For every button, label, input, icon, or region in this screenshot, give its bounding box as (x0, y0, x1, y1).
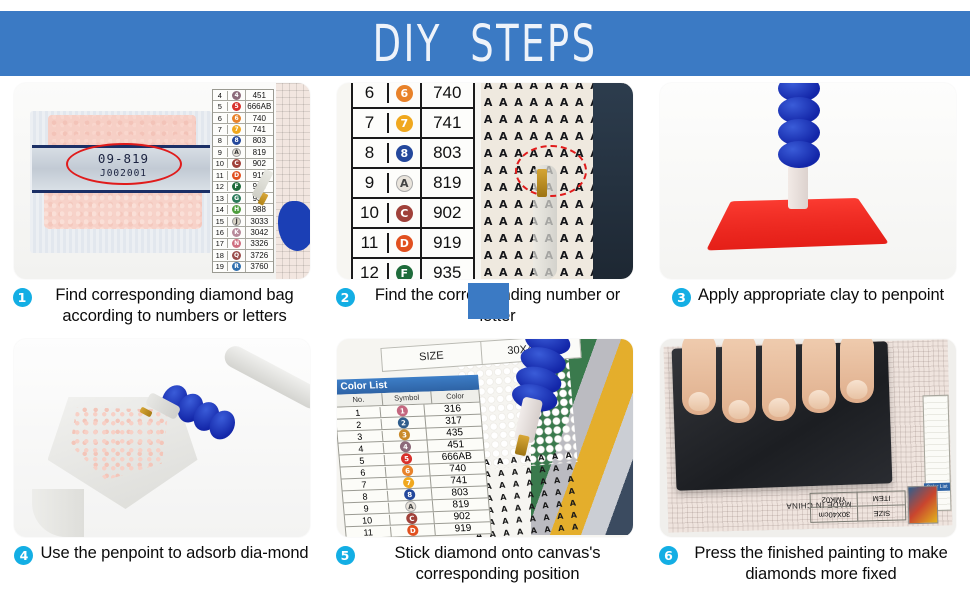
chart-no: 15 (213, 217, 229, 226)
color-dot: 1 (396, 405, 408, 416)
chart-no: 11 (353, 233, 389, 253)
canvas-symbol: A (481, 181, 496, 198)
color-dot: A (396, 175, 413, 192)
step-cell-4: 4 Use the penpoint to adsorb dia-mond (0, 336, 323, 600)
chart-row: 11D919 (353, 229, 473, 259)
canvas-symbol: A (572, 96, 587, 113)
color-list-table: 1131622317334354445155666AB6674077741888… (337, 403, 492, 537)
row-code: 741 (431, 474, 487, 487)
chart-no: 9 (353, 173, 389, 193)
color-dot: 6 (396, 85, 413, 102)
chart-row: 17N3326 (213, 239, 273, 250)
canvas-symbol: A (526, 130, 541, 147)
row-no: 5 (339, 454, 385, 466)
chart-symbol: 8 (228, 136, 246, 146)
canvas-symbol: A (526, 83, 541, 96)
chart-code: 451 (246, 91, 272, 100)
spec-value: 30X40cm (811, 507, 858, 522)
red-dashed-ellipse-icon (515, 145, 587, 197)
canvas-symbol: A (481, 83, 496, 96)
chart-row: 14H988 (213, 204, 273, 215)
spec-value: YMK02 (811, 492, 858, 507)
chart-code: 3726 (246, 251, 272, 260)
step-1-photo: 09-819 J002001 4445155666AB6674077741888… (14, 83, 310, 279)
color-dot: 4 (232, 91, 241, 100)
canvas-symbol: A (526, 96, 541, 113)
color-dot: G (232, 194, 241, 203)
canvas-symbol: A (496, 147, 511, 164)
chart-symbol: 7 (228, 124, 246, 134)
chart-no: 19 (213, 262, 229, 271)
color-dot: 8 (396, 145, 413, 162)
header-banner: DIY STEPS (0, 11, 970, 76)
chart-code: 3760 (246, 262, 272, 271)
canvas-symbol: A (481, 198, 496, 215)
canvas-symbol: A (481, 232, 496, 249)
canvas-symbol: A (556, 83, 571, 96)
finger (682, 339, 716, 415)
step-badge-3: 3 (672, 288, 691, 307)
canvas-symbol: A (526, 526, 541, 537)
canvas-symbol: A (556, 113, 571, 130)
canvas-symbol: A (496, 96, 511, 113)
chart-symbol: D (228, 170, 246, 180)
step-3-text: Apply appropriate clay to penpoint (698, 285, 944, 306)
color-dot: 5 (400, 453, 412, 464)
finger (762, 339, 796, 421)
page-title: DIY STEPS (373, 18, 598, 68)
row-code: 819 (433, 498, 489, 511)
fingernail (809, 390, 830, 409)
chart-no: 7 (213, 125, 229, 134)
fingernail (729, 400, 750, 419)
chart-code: 666AB (246, 102, 272, 111)
chart-symbol: G (228, 193, 246, 203)
chart-no: 9 (213, 148, 229, 157)
canvas-symbol: A (572, 266, 587, 279)
canvas-symbol: A (572, 232, 587, 249)
color-dot: F (396, 265, 413, 280)
step-cell-6: Color List MADE IN CHINA SIZE30X40cmITEM… (646, 336, 970, 600)
chart-no: 12 (213, 182, 229, 191)
step-2-photo: AAAAAAAAAAAAAAAAAAAAAAAAAAAAAAAAAAAAAAAA… (337, 83, 633, 279)
color-dot: 4 (399, 441, 411, 452)
spec-key: ITEM (857, 490, 905, 505)
canvas-symbol: A (481, 96, 496, 113)
color-dot: H (232, 205, 241, 214)
row-symbol: 5 (384, 452, 430, 465)
canvas-symbol: A (496, 181, 511, 198)
canvas-symbol: A (481, 130, 496, 147)
color-dot: K (232, 228, 241, 237)
color-dot: 7 (402, 477, 414, 488)
row-code: 317 (425, 415, 481, 428)
step-badge-1: 1 (13, 288, 32, 307)
drill-pen (138, 341, 310, 461)
canvas-label-strip: MADE IN CHINA SIZE30X40cmITEMYMK02 (667, 485, 940, 534)
color-dot: R (232, 262, 241, 271)
canvas-symbol: A (496, 113, 511, 130)
hand (682, 339, 892, 429)
step-badge-2: 2 (336, 288, 355, 307)
canvas-symbol: A (496, 164, 511, 181)
canvas-symbol: A (481, 249, 496, 266)
color-dot: 8 (403, 489, 415, 500)
chart-code: 803 (422, 143, 472, 163)
color-dot: A (232, 148, 241, 157)
chart-symbol: H (228, 204, 246, 214)
row-no: 4 (338, 443, 384, 455)
finger (802, 339, 836, 413)
canvas-symbol: A (541, 96, 556, 113)
canvas-symbol: A (572, 249, 587, 266)
chart-code: 819 (246, 148, 272, 157)
row-code: 435 (426, 427, 482, 440)
canvas-symbol: A (496, 83, 511, 96)
artwork-thumbnail (907, 485, 938, 524)
color-dot: C (396, 205, 413, 222)
chart-symbol: 5 (228, 101, 246, 111)
chart-code: 741 (246, 125, 272, 134)
steps-grid: 09-819 J002001 4445155666AB6674077741888… (0, 80, 970, 600)
chart-row: 66740 (353, 83, 473, 109)
step-5-caption: 5 Stick diamond onto canvas's correspond… (330, 543, 640, 584)
chart-code: 740 (246, 114, 272, 123)
canvas-symbol: A (481, 164, 496, 181)
row-code: 666AB (428, 451, 484, 464)
row-no: 10 (344, 514, 390, 526)
canvas-symbol: A (572, 130, 587, 147)
chart-code: 935 (422, 263, 472, 279)
color-dot: D (396, 235, 413, 252)
finger (840, 339, 874, 403)
chart-row: 55666AB (213, 101, 273, 112)
chart-row: 9A819 (213, 147, 273, 158)
chart-no: 16 (213, 228, 229, 237)
color-dot: C (405, 513, 417, 524)
chart-no: 10 (213, 159, 229, 168)
step-badge-5: 5 (336, 546, 355, 565)
color-dot: 2 (397, 417, 409, 428)
step-6-text: Press the finished painting to make diam… (685, 543, 957, 584)
color-dot: 6 (232, 114, 241, 123)
row-code: 451 (427, 439, 483, 452)
row-no: 6 (340, 466, 386, 478)
canvas-symbol: A (512, 527, 527, 537)
step-cell-1: 09-819 J002001 4445155666AB6674077741888… (0, 80, 323, 336)
chart-row: 19R3760 (213, 262, 273, 272)
color-dot: 6 (401, 465, 413, 476)
canvas-symbol: A (511, 83, 526, 96)
canvas-symbol: A (496, 232, 511, 249)
chart-symbol: 4 (228, 90, 246, 100)
color-dot: 8 (232, 136, 241, 145)
step-4-photo (14, 339, 310, 537)
chart-code: 740 (422, 83, 472, 103)
chart-code: 988 (246, 205, 272, 214)
canvas-symbol: A (556, 232, 571, 249)
step-3-caption: 3 Apply appropriate clay to penpoint (653, 285, 963, 307)
canvas-symbol: A (540, 524, 555, 537)
chart-no: 8 (213, 136, 229, 145)
chart-no: 14 (213, 205, 229, 214)
canvas-symbol: A (556, 96, 571, 113)
row-no: 2 (337, 419, 382, 431)
row-symbol: 8 (387, 488, 433, 501)
row-no: 11 (345, 526, 391, 537)
diamond-grains-bottom (44, 187, 202, 229)
grip-bead (778, 141, 820, 168)
chart-row: 10C902 (353, 199, 473, 229)
blue-occlusion-box (468, 283, 509, 319)
color-dot: 7 (232, 125, 241, 134)
canvas-symbol: A (554, 523, 569, 536)
step-cell-5: AAAAAAAAAAAAAAAAAAAAAAAAAAAAAAAAAAAAAAAA… (323, 336, 646, 600)
chart-code: 3042 (246, 228, 272, 237)
pen-tip-icon (139, 407, 152, 418)
color-dot: 5 (232, 102, 241, 111)
canvas-symbol: A (556, 249, 571, 266)
row-no: 3 (337, 431, 383, 443)
chart-code: 741 (422, 113, 472, 133)
step-3-photo (660, 83, 956, 279)
canvas-symbol: A (556, 130, 571, 147)
column-header: No. (337, 393, 384, 407)
chart-row: 10C902 (213, 159, 273, 170)
chart-row: 66740 (213, 113, 273, 124)
step-6-caption: 6 Press the finished painting to make di… (653, 543, 963, 584)
row-no: 9 (343, 502, 389, 514)
spec-row: ITEMYMK02 (811, 490, 905, 506)
size-label: SIZE (381, 347, 480, 366)
row-code: 316 (424, 403, 480, 416)
color-dot: A (404, 501, 416, 512)
color-dot: 3 (398, 429, 410, 440)
chart-symbol: F (228, 182, 246, 192)
chart-symbol: D (389, 229, 423, 257)
column-header: Color (430, 390, 478, 404)
canvas-symbol: A (526, 113, 541, 130)
chart-row: 77741 (353, 109, 473, 139)
chart-symbol: 6 (228, 113, 246, 123)
color-dot: N (232, 239, 241, 248)
chart-no: 8 (353, 143, 389, 163)
row-symbol: A (388, 500, 434, 513)
chart-row: 18Q3726 (213, 250, 273, 261)
chart-symbol: C (228, 159, 246, 169)
color-dot: J (232, 217, 241, 226)
row-symbol: C (389, 512, 435, 525)
fingernail (847, 380, 868, 399)
canvas-symbol: A (567, 522, 582, 535)
step-1-caption: 1 Find corresponding diamond bag accordi… (7, 285, 317, 326)
spec-row: SIZE30X40cm (811, 504, 905, 521)
step-6-photo: Color List MADE IN CHINA SIZE30X40cmITEM… (660, 339, 956, 537)
chart-no: 5 (213, 102, 229, 111)
canvas-symbol: A (572, 198, 587, 215)
canvas-symbol: A (572, 113, 587, 130)
color-dot: C (232, 159, 241, 168)
canvas-symbol: A (511, 266, 526, 279)
chart-no: 6 (353, 83, 389, 103)
chart-symbol: K (228, 227, 246, 237)
pen-tip-icon (537, 169, 547, 197)
color-dot: Q (232, 251, 241, 260)
chart-symbol: A (228, 147, 246, 157)
row-symbol: 1 (380, 405, 426, 418)
color-list-panel: Color List No.SymbolColor 11316223173343… (337, 375, 492, 537)
row-no: 8 (342, 490, 388, 502)
row-code: 803 (432, 486, 488, 499)
canvas-symbol: A (511, 249, 526, 266)
canvas-symbol: A (481, 113, 496, 130)
canvas-symbol: A (556, 198, 571, 215)
chart-row: 88803 (213, 136, 273, 147)
step-5-photo: AAAAAAAAAAAAAAAAAAAAAAAAAAAAAAAAAAAAAAAA… (337, 339, 633, 537)
step-badge-4: 4 (14, 546, 33, 565)
row-no: 1 (337, 407, 381, 419)
chart-no: 10 (353, 203, 389, 223)
chart-row: 88803 (353, 139, 473, 169)
chart-code: 819 (422, 173, 472, 193)
canvas-symbol: A (496, 249, 511, 266)
row-code: 902 (434, 510, 490, 523)
chart-row: 77741 (213, 124, 273, 135)
chart-symbol: C (389, 199, 423, 227)
canvas-dark-strip (593, 83, 633, 279)
canvas-symbol: A (511, 130, 526, 147)
spec-key: SIZE (857, 505, 905, 520)
step-5-text: Stick diamond onto canvas's correspondin… (362, 543, 634, 584)
chart-code: 919 (422, 233, 472, 253)
canvas-symbol: A (511, 198, 526, 215)
column-header: Symbol (382, 391, 431, 405)
step-badge-6: 6 (659, 546, 678, 565)
diy-steps-infographic: DIY STEPS 09-819 J002001 4445155666AB667… (0, 0, 970, 600)
finger (722, 339, 756, 423)
chart-code: 803 (246, 136, 272, 145)
step-cell-3: 3 Apply appropriate clay to penpoint (646, 80, 970, 336)
chart-symbol: 7 (389, 109, 423, 137)
canvas-symbol: A (499, 528, 514, 537)
chart-symbol: 8 (389, 139, 423, 167)
color-dot: 7 (396, 115, 413, 132)
canvas-symbol: A (496, 266, 511, 279)
chart-row: 9A819 (353, 169, 473, 199)
step-4-text: Use the penpoint to adsorb dia-mond (40, 543, 308, 564)
row-code: 919 (435, 522, 491, 535)
step-1-text: Find corresponding diamond bag according… (39, 285, 311, 326)
canvas-symbol: A (496, 215, 511, 232)
chart-no: 13 (213, 194, 229, 203)
chart-symbol: 6 (389, 83, 423, 107)
color-dot: D (232, 171, 241, 180)
chart-row: 12F935 (353, 259, 473, 279)
spec-table: SIZE30X40cmITEMYMK02 (810, 490, 907, 523)
canvas-symbol: A (511, 215, 526, 232)
chart-no: 7 (353, 113, 389, 133)
row-no: 7 (341, 478, 387, 490)
canvas-symbol: A (481, 147, 496, 164)
row-symbol: 2 (381, 417, 427, 430)
chart-symbol: F (389, 259, 423, 279)
canvas-symbol: A (481, 266, 496, 279)
canvas-symbol: A (541, 83, 556, 96)
canvas-symbol: A (511, 232, 526, 249)
canvas-symbol: A (572, 215, 587, 232)
chart-code: 3326 (246, 239, 272, 248)
pen-shaft (220, 342, 309, 412)
canvas-symbol: A (496, 198, 511, 215)
row-symbol: 6 (385, 464, 431, 477)
color-dot: F (232, 182, 241, 191)
chart-no: 6 (213, 114, 229, 123)
chart-symbol: N (228, 239, 246, 249)
step-4-caption: 4 Use the penpoint to adsorb dia-mond (7, 543, 317, 565)
canvas-symbol: A (481, 215, 496, 232)
color-dot: D (406, 525, 418, 536)
chart-no: 4 (213, 91, 229, 100)
canvas-symbol: A (572, 83, 587, 96)
chart-symbol: Q (228, 250, 246, 260)
canvas-symbol: A (511, 113, 526, 130)
pen-grip (778, 83, 820, 171)
chart-no: 12 (353, 263, 389, 279)
canvas-symbol: A (511, 96, 526, 113)
color-chart-zoomed: 6674077741888039A81910C90211D91912F935 (351, 83, 475, 279)
canvas-symbol: A (556, 215, 571, 232)
canvas-symbol: A (556, 266, 571, 279)
pen-shaft (788, 165, 808, 209)
chart-no: 11 (213, 171, 229, 180)
chart-symbol: A (389, 169, 423, 197)
canvas-symbol: A (496, 130, 511, 147)
row-symbol: 4 (383, 440, 429, 453)
fingernail (769, 398, 790, 417)
chart-symbol: J (228, 216, 246, 226)
chart-code: 902 (422, 203, 472, 223)
row-symbol: 7 (386, 476, 432, 489)
red-ellipse-highlight-icon (66, 143, 182, 185)
chart-row: 15J3033 (213, 216, 273, 227)
chart-code: 902 (246, 159, 272, 168)
chart-no: 18 (213, 251, 229, 260)
row-code: 740 (429, 462, 485, 475)
chart-no: 17 (213, 239, 229, 248)
fingernail (689, 392, 710, 411)
row-symbol: 3 (382, 429, 428, 442)
chart-symbol: R (228, 262, 246, 272)
canvas-symbol: A (541, 113, 556, 130)
row-symbol: D (390, 524, 436, 537)
chart-row: 16K3042 (213, 227, 273, 238)
chart-row: 44451 (213, 90, 273, 101)
chart-code: 3033 (246, 217, 272, 226)
